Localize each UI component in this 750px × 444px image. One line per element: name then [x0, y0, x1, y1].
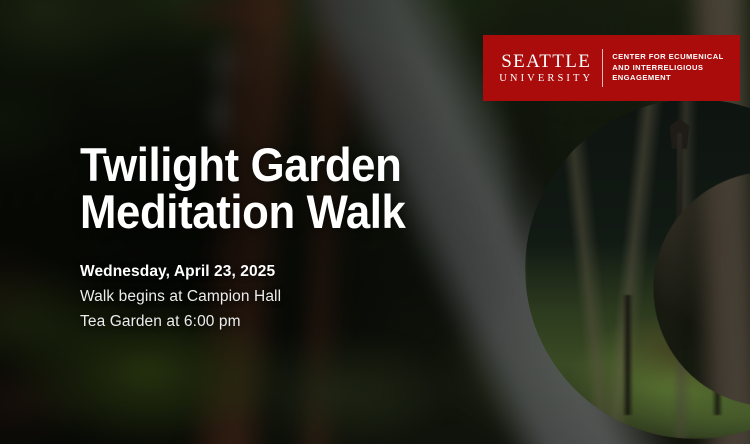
event-location-line-1: Walk begins at Campion Hall: [80, 284, 500, 309]
tagline-line-2: AND INTERRELIGIOUS: [612, 63, 724, 74]
event-date: Wednesday, April 23, 2025: [80, 259, 500, 284]
crescent-fence-posts: [555, 295, 750, 415]
event-title-line-2: Meditation Walk: [80, 189, 471, 236]
event-title: Twilight Garden Meditation Walk: [80, 142, 471, 235]
wordmark-seattle: SEATTLE: [501, 52, 591, 71]
crescent-shape-mask: [525, 99, 750, 439]
event-poster: SEATTLE UNIVERSITY CENTER FOR ECUMENICAL…: [0, 0, 750, 444]
tagline-line-3: ENGAGEMENT: [612, 73, 724, 84]
seattle-university-wordmark: SEATTLE UNIVERSITY: [499, 52, 593, 85]
event-title-line-1: Twilight Garden: [80, 142, 471, 189]
event-location-line-2: Tea Garden at 6:00 pm: [80, 309, 500, 334]
poster-copy-block: Twilight Garden Meditation Walk Wednesda…: [80, 142, 500, 334]
tagline-line-1: CENTER FOR ECUMENICAL: [612, 52, 724, 63]
wordmark-university: UNIVERSITY: [499, 74, 593, 85]
logo-divider-rule: [602, 49, 603, 87]
seattle-university-logo-banner: SEATTLE UNIVERSITY CENTER FOR ECUMENICAL…: [483, 35, 740, 101]
center-tagline: CENTER FOR ECUMENICAL AND INTERRELIGIOUS…: [612, 52, 724, 84]
event-details: Wednesday, April 23, 2025 Walk begins at…: [80, 259, 500, 334]
logo-content: SEATTLE UNIVERSITY CENTER FOR ECUMENICAL…: [499, 49, 724, 87]
